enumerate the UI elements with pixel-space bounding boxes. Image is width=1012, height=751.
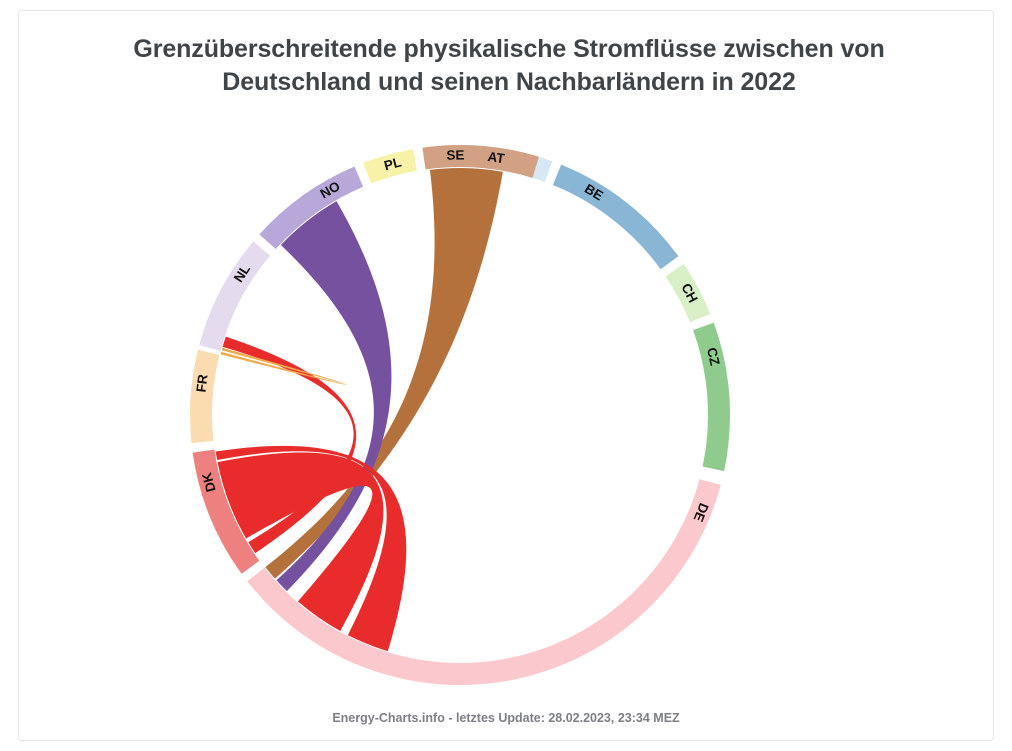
chord-arc-cz[interactable]: [693, 323, 730, 471]
chord-diagram[interactable]: ATBECHCZDEDKFRNLNOPLSE: [0, 0, 1012, 751]
chord-arc-nl[interactable]: [199, 241, 270, 350]
arc-label-se: SE: [446, 147, 464, 162]
arc-label-fr: FR: [193, 373, 210, 393]
chord-ribbon-fr-nl[interactable]: [221, 348, 347, 385]
chord-arc-be[interactable]: [553, 165, 679, 270]
chord-diagram-svg[interactable]: ATBECHCZDEDKFRNLNOPLSE: [0, 0, 1012, 751]
footer-source-text: Energy-Charts.info - letztes Update: 28.…: [0, 711, 1012, 725]
chord-arc-fr[interactable]: [190, 350, 219, 444]
arc-label-at: AT: [487, 149, 507, 166]
